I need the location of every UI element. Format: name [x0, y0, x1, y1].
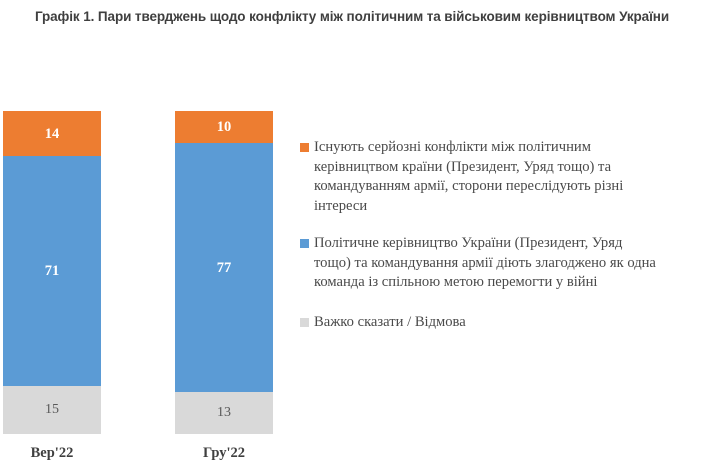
bar-segment-gray[interactable]: 15: [3, 386, 101, 434]
bar-stack: 10 77 13: [175, 111, 273, 434]
bar-segment-orange[interactable]: 10: [175, 111, 273, 143]
chart-legend: Існують серйозні конфлікти між політични…: [300, 138, 696, 350]
legend-item-label: Політичне керівництво України (Президент…: [314, 234, 659, 293]
bar-stack: 14 71 15: [3, 111, 101, 434]
x-axis-tick-label: Гру'22: [175, 445, 273, 462]
legend-item-coordinated[interactable]: Політичне керівництво України (Президент…: [300, 234, 696, 293]
bar-segment-orange[interactable]: 14: [3, 111, 101, 156]
bar-segment-label: 10: [175, 120, 273, 135]
plot-area: 14 71 15 10 77 13: [0, 0, 290, 472]
bar-segment-gray[interactable]: 13: [175, 392, 273, 434]
bar-segment-label: 15: [3, 403, 101, 417]
bar-segment-blue[interactable]: 77: [175, 143, 273, 392]
legend-swatch-icon: [300, 239, 309, 248]
legend-item-hard-to-say[interactable]: Важко сказати / Відмова: [300, 313, 696, 333]
bar-column-gru22[interactable]: 10 77 13: [175, 111, 273, 434]
bar-segment-label: 77: [175, 260, 273, 275]
bar-segment-label: 14: [3, 126, 101, 141]
bar-segment-label: 13: [175, 406, 273, 420]
bar-segment-label: 71: [3, 264, 101, 279]
legend-swatch-icon: [300, 318, 309, 327]
legend-swatch-icon: [300, 143, 309, 152]
chart-container: Графік 1. Пари тверджень щодо конфлікту …: [0, 0, 704, 472]
bar-column-ver22[interactable]: 14 71 15: [3, 111, 101, 434]
legend-item-label: Існують серйозні конфлікти між політични…: [314, 138, 659, 216]
x-axis-tick-label: Вер'22: [3, 445, 101, 462]
bar-segment-blue[interactable]: 71: [3, 156, 101, 385]
legend-item-conflict[interactable]: Існують серйозні конфлікти між політични…: [300, 138, 696, 216]
legend-item-label: Важко сказати / Відмова: [314, 313, 466, 333]
